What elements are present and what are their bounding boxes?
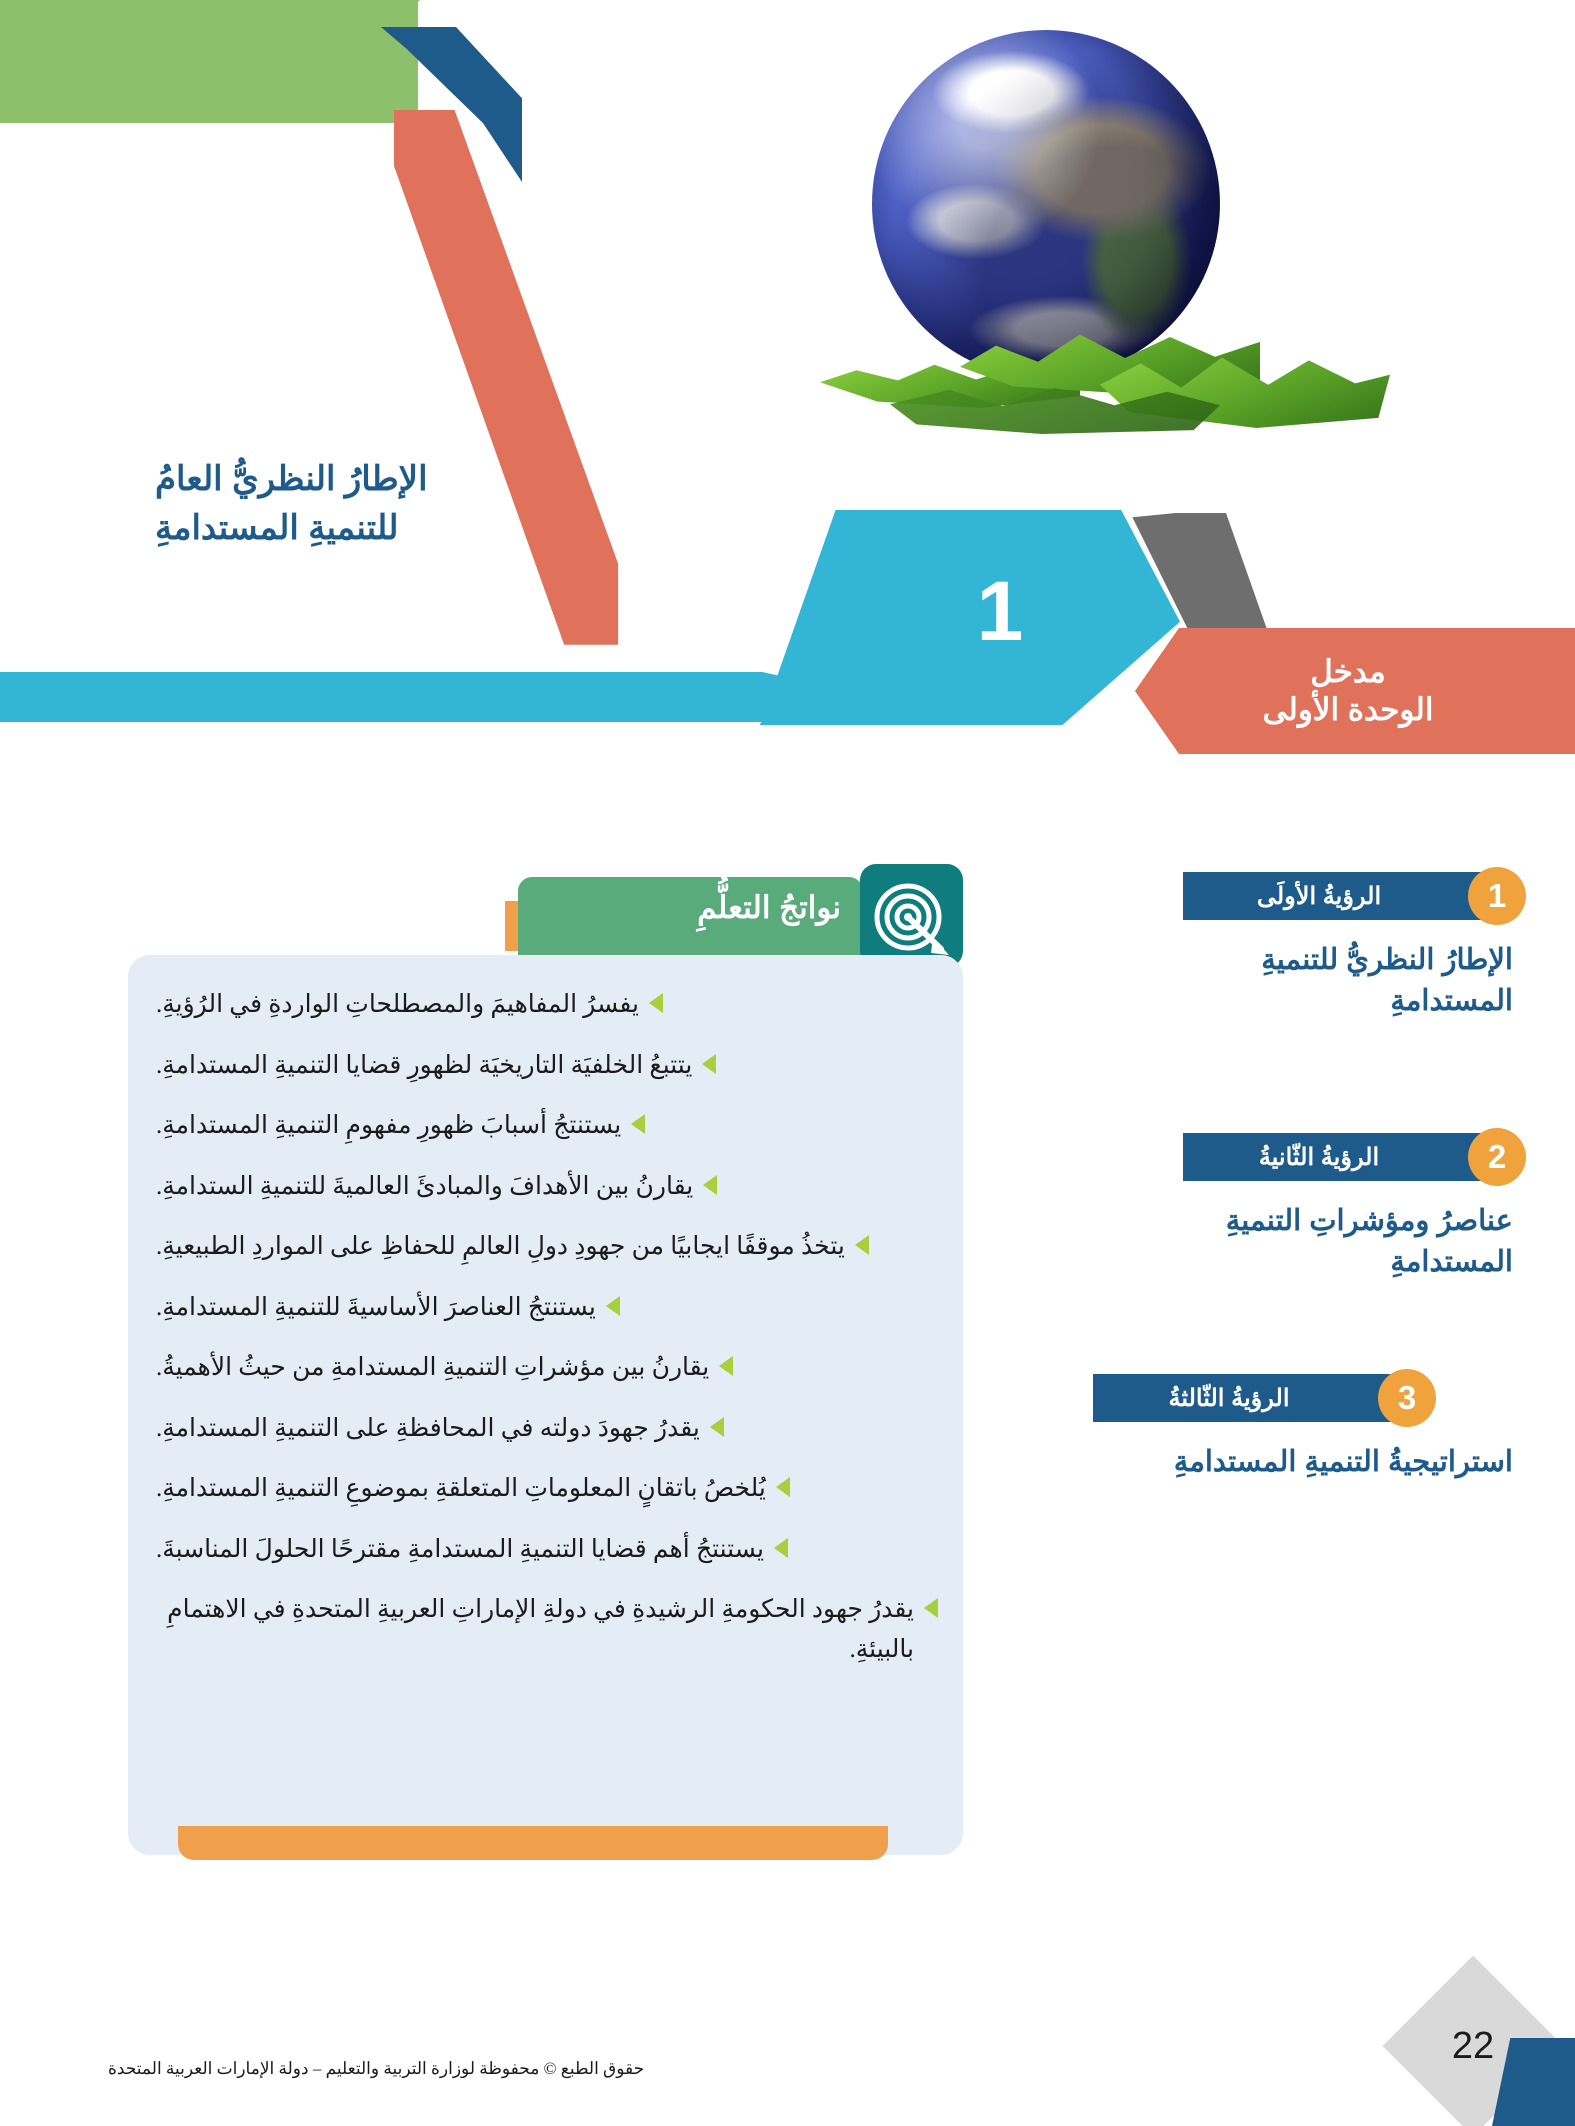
- bullet-arrow-icon: [710, 1417, 724, 1437]
- bullet-arrow-icon: [924, 1598, 938, 1618]
- page-title-line-2: للتنميةِ المستدامةِ: [155, 504, 575, 553]
- bullet-arrow-icon: [719, 1356, 733, 1376]
- learning-outcome-text: يستنتجُ أهم قضايا التنميةِ المستدامةِ مق…: [156, 1530, 764, 1570]
- page-title: الإطارُ النظريُّ العامُ للتنميةِ المستدا…: [155, 455, 575, 554]
- learning-outcome-text: يقدرُ جهود الحكومةِ الرشيدةِ في دولةِ ال…: [156, 1590, 914, 1669]
- target-dartboard-icon: [860, 864, 963, 967]
- vision-title-2: عناصرُ ومؤشراتِ التنميةِ المستدامةِ: [1183, 1201, 1513, 1282]
- bullet-arrow-icon: [774, 1538, 788, 1558]
- vision-chip-label-1: الرؤيةُ الأولَى: [1183, 882, 1459, 911]
- vision-chip-3[interactable]: الرؤيةُ الثّالثةُ 3: [1093, 1374, 1423, 1422]
- unit-banner: مدخل الوحدة الأولى: [1135, 628, 1575, 754]
- learning-outcome-item: يقارنُ بين مؤشراتِ التنميةِ المستدامةِ م…: [148, 1348, 948, 1388]
- learning-outcome-text: يتتبعُ الخلفيَة التاريخيَة لظهورِ قضايا …: [156, 1046, 692, 1086]
- bullet-arrow-icon: [776, 1477, 790, 1497]
- learning-outcome-item: يُلخصُ باتقانٍ المعلوماتِ المتعلقةِ بموض…: [148, 1469, 948, 1509]
- vision-section-3[interactable]: الرؤيةُ الثّالثةُ 3 استراتيجيةُ التنميةِ…: [1093, 1374, 1513, 1483]
- vision-chip-2[interactable]: الرؤيةُ الثّانيةُ 2: [1183, 1133, 1513, 1181]
- learning-outcome-item: يفسرُ المفاهيمَ والمصطلحاتِ الواردةِ في …: [148, 985, 948, 1025]
- vision-badge-3: 3: [1378, 1369, 1436, 1427]
- vision-section-1[interactable]: الرؤيةُ الأولَى 1 الإطارُ النظريُّ للتنم…: [1183, 872, 1513, 1021]
- unit-banner-line-1: مدخل: [1310, 653, 1386, 691]
- learning-outcome-text: يفسرُ المفاهيمَ والمصطلحاتِ الواردةِ في …: [156, 985, 639, 1025]
- learning-outcome-text: يستنتجُ العناصرَ الأساسيةَ للتنميةِ المس…: [156, 1288, 596, 1328]
- teal-left-bar: [0, 690, 30, 708]
- learning-outcome-item: يقدرُ جهود الحكومةِ الرشيدةِ في دولةِ ال…: [148, 1590, 948, 1669]
- learning-outcome-text: يقارنُ بين الأهدافَ والمبادئَ العالميةَ …: [156, 1167, 693, 1207]
- learning-outcome-text: يقارنُ بين مؤشراتِ التنميةِ المستدامةِ م…: [156, 1348, 709, 1388]
- learning-outcome-text: يتخذُ موقفًا ايجابيًا من جهودِ دولِ العا…: [156, 1227, 845, 1267]
- vision-section-2[interactable]: الرؤيةُ الثّانيةُ 2 عناصرُ ومؤشراتِ التن…: [1183, 1133, 1513, 1282]
- learning-outcome-item: يقارنُ بين الأهدافَ والمبادئَ العالميةَ …: [148, 1167, 948, 1207]
- learning-outcomes-list: يفسرُ المفاهيمَ والمصطلحاتِ الواردةِ في …: [148, 985, 948, 1690]
- vision-badge-2: 2: [1468, 1128, 1526, 1186]
- bullet-arrow-icon: [606, 1296, 620, 1316]
- leaves-decor: [800, 310, 1400, 500]
- learning-outcomes-title: نواتجُ التعلُّمِ: [697, 890, 841, 926]
- learning-outcome-text: يُلخصُ باتقانٍ المعلوماتِ المتعلقةِ بموض…: [156, 1469, 766, 1509]
- vision-chip-1[interactable]: الرؤيةُ الأولَى 1: [1183, 872, 1513, 920]
- learning-outcome-item: يتتبعُ الخلفيَة التاريخيَة لظهورِ قضايا …: [148, 1046, 948, 1086]
- copyright-notice: حقوق الطبع © محفوظة لوزارة التربية والتع…: [108, 2059, 644, 2079]
- learning-outcome-item: يتخذُ موقفًا ايجابيًا من جهودِ دولِ العا…: [148, 1227, 948, 1267]
- vision-chip-label-3: الرؤيةُ الثّالثةُ: [1093, 1384, 1369, 1413]
- vision-chip-label-2: الرؤيةُ الثّانيةُ: [1183, 1143, 1459, 1172]
- bullet-arrow-icon: [649, 993, 663, 1013]
- page-title-line-1: الإطارُ النظريُّ العامُ: [155, 455, 575, 504]
- bullet-arrow-icon: [855, 1235, 869, 1255]
- bullet-arrow-icon: [703, 1175, 717, 1195]
- textbook-page: الإطارُ النظريُّ العامُ للتنميةِ المستدا…: [0, 0, 1575, 2126]
- learning-outcome-item: يستنتجُ العناصرَ الأساسيةَ للتنميةِ المس…: [148, 1288, 948, 1328]
- vision-badge-1: 1: [1468, 867, 1526, 925]
- learning-outcomes-card-footer: [178, 1826, 888, 1860]
- learning-outcome-item: يستنتجُ أهم قضايا التنميةِ المستدامةِ مق…: [148, 1530, 948, 1570]
- bullet-arrow-icon: [702, 1054, 716, 1074]
- teal-bottom-band: [0, 672, 990, 722]
- learning-outcome-text: يستنتجُ أسبابَ ظهورِ مفهومِ التنميةِ الم…: [156, 1106, 621, 1146]
- learning-outcomes-header: نواتجُ التعلُّمِ: [518, 877, 863, 955]
- learning-outcome-item: يقدرُ جهودَ دولته في المحافظةِ على التنم…: [148, 1409, 948, 1449]
- unit-banner-line-2: الوحدة الأولى: [1263, 691, 1434, 729]
- vision-title-1: الإطارُ النظريُّ للتنميةِ المستدامةِ: [1183, 940, 1513, 1021]
- vision-title-3: استراتيجيةُ التنميةِ المستدامةِ: [1093, 1442, 1513, 1483]
- earth-globe-image: [800, 10, 1400, 500]
- bullet-arrow-icon: [631, 1114, 645, 1134]
- learning-outcome-item: يستنتجُ أسبابَ ظهورِ مفهومِ التنميةِ الم…: [148, 1106, 948, 1146]
- learning-outcome-text: يقدرُ جهودَ دولته في المحافظةِ على التنم…: [156, 1409, 700, 1449]
- unit-number: 1: [960, 556, 1040, 666]
